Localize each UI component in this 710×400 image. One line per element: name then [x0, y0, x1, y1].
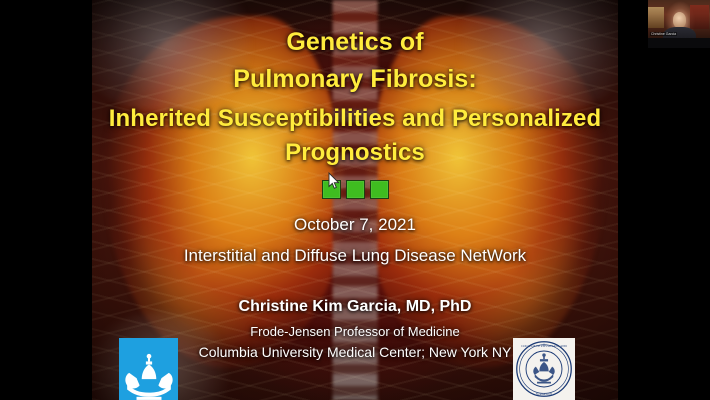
presentation-viewport: Genetics of Pulmonary Fibrosis: Inherite… — [0, 0, 710, 400]
webcam-participant-tile[interactable]: Christine Garcia — [648, 0, 710, 48]
presenter-title: Frode-Jensen Professor of Medicine — [92, 324, 618, 339]
presenter-name: Christine Kim Garcia, MD, PhD — [92, 298, 618, 316]
slide-title-line-2: Pulmonary Fibrosis: — [92, 65, 618, 94]
slide-title-line-4: Prognostics — [92, 139, 618, 167]
green-square — [346, 180, 365, 199]
webcam-background-wall — [690, 5, 709, 29]
academic-seal-icon: COLLEGE OF PHYSICIANS AND SURGEONS — [515, 340, 573, 398]
slide-date: October 7, 2021 — [92, 215, 618, 235]
columbia-crown-logo — [119, 338, 178, 400]
webcam-participant-name: Christine Garcia — [650, 32, 677, 36]
webcam-background-shelf — [648, 7, 664, 28]
green-square — [370, 180, 389, 199]
mouse-cursor — [328, 172, 340, 190]
college-of-physicians-and-surgeons-seal: COLLEGE OF PHYSICIANS AND SURGEONS — [513, 338, 575, 400]
slide-title-line-3: Inherited Susceptibilities and Personali… — [92, 105, 618, 133]
slide-title-line-1: Genetics of — [92, 28, 618, 57]
svg-text:COLLEGE OF PHYSICIANS AND: COLLEGE OF PHYSICIANS AND — [521, 344, 567, 348]
slide-event-name: Interstitial and Diffuse Lung Disease Ne… — [92, 246, 618, 266]
webcam-bottom-bar — [648, 38, 710, 48]
webcam-person-head — [673, 12, 687, 28]
slide-content[interactable]: Genetics of Pulmonary Fibrosis: Inherite… — [92, 0, 618, 400]
crown-icon — [123, 352, 175, 400]
green-square-decoration — [92, 180, 618, 199]
